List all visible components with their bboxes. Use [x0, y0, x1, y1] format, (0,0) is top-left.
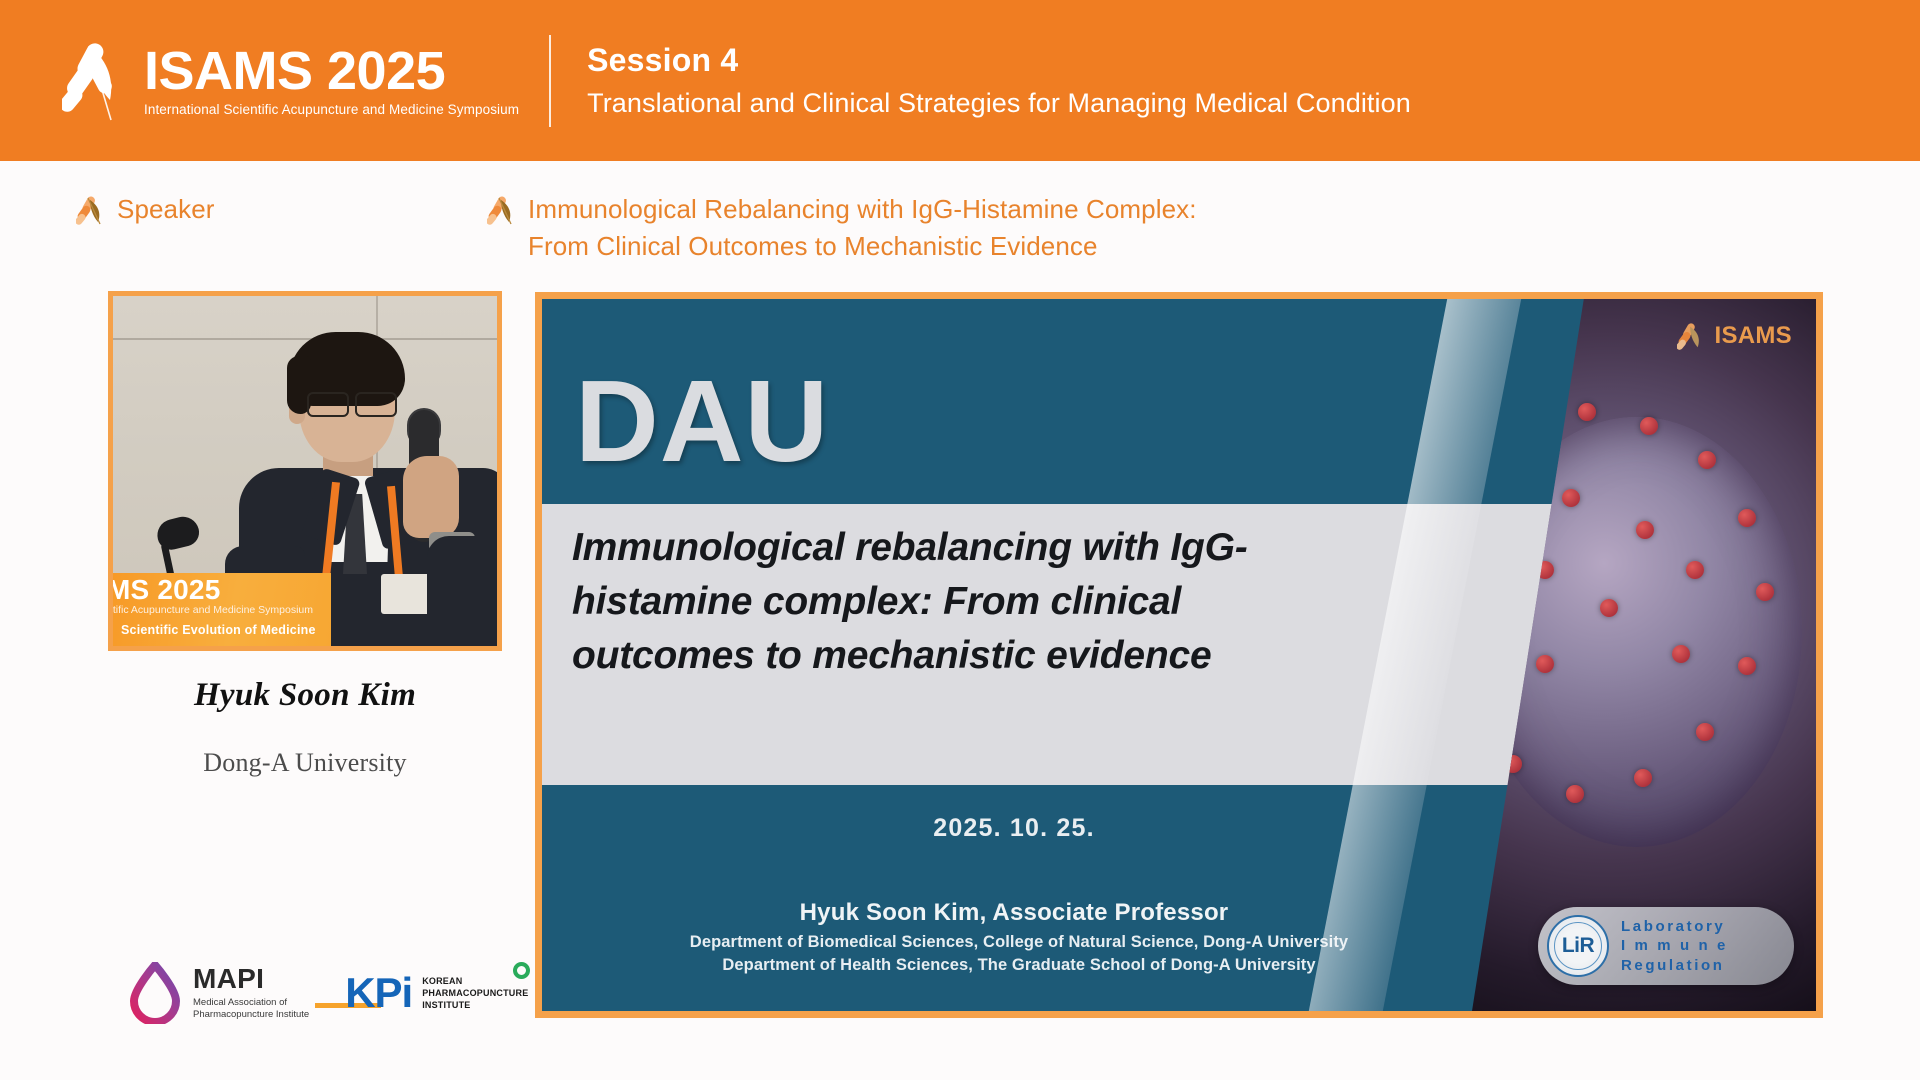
mapi-full-name: Medical Association of Pharmacopuncture …	[193, 997, 309, 1020]
overlay-subtitle: ntific Acupuncture and Medicine Symposiu…	[113, 604, 313, 616]
speaker-label-group: Speaker	[76, 191, 215, 228]
isams-watermark: ISAMS	[1677, 321, 1792, 351]
lab-name: Laboratory I m m u n e Regulation	[1621, 917, 1728, 976]
talk-title: Immunological Rebalancing with IgG-Hista…	[528, 191, 1197, 265]
university-abbr: DAU	[575, 363, 829, 479]
mapi-abbr: MAPI	[193, 965, 309, 993]
acupuncture-needle-icon	[76, 194, 108, 226]
session-description: Translational and Clinical Strategies fo…	[587, 87, 1411, 119]
overlay-title: MS 2025	[113, 574, 220, 606]
header-divider	[549, 35, 551, 127]
lir-abbr: LiR	[1549, 917, 1607, 975]
photo-overlay-banner: MS 2025 ntific Acupuncture and Medicine …	[113, 573, 331, 646]
speaker-photo: MS 2025 ntific Acupuncture and Medicine …	[108, 291, 502, 651]
speaker-label: Speaker	[117, 191, 215, 228]
speaker-organization: Dong-A University	[108, 748, 502, 778]
kpi-full-name: KOREAN PHARMACOPUNCTURE INSTITUTE	[422, 975, 528, 1011]
brand-subtitle: International Scientific Acupuncture and…	[144, 102, 519, 117]
session-name: Session 4	[587, 42, 1411, 80]
talk-title-group: Immunological Rebalancing with IgG-Hista…	[487, 191, 1197, 265]
acupuncture-needle-icon	[487, 194, 519, 226]
overlay-tagline: Scientific Evolution of Medicine	[121, 623, 316, 637]
lab-logo-badge: LiR Laboratory I m m u n e Regulation	[1538, 907, 1794, 985]
watermark-text: ISAMS	[1714, 322, 1792, 350]
isams-brand: ISAMS 2025 International Scientific Acup…	[62, 38, 519, 124]
page-header: ISAMS 2025 International Scientific Acup…	[0, 0, 1920, 161]
label-row: Speaker Immunological Rebalancing with I…	[0, 161, 1920, 286]
brand-title: ISAMS 2025	[144, 44, 519, 98]
kpi-abbr: KPi	[345, 972, 412, 1014]
lir-seal-icon: LiR	[1547, 915, 1609, 977]
kpi-logo: KPi KOREAN PHARMACOPUNCTURE INSTITUTE	[345, 972, 528, 1014]
slide-canvas: DAU Immunological rebalancing with IgG-h…	[542, 299, 1816, 1011]
sponsor-logos: MAPI Medical Association of Pharmacopunc…	[128, 962, 528, 1024]
slide-preview[interactable]: DAU Immunological rebalancing with IgG-h…	[535, 292, 1823, 1018]
acupuncture-needle-icon	[1677, 321, 1707, 351]
isams-logo-icon	[62, 38, 134, 124]
droplet-icon	[128, 962, 182, 1024]
speaker-card: MS 2025 ntific Acupuncture and Medicine …	[108, 291, 502, 778]
mapi-logo: MAPI Medical Association of Pharmacopunc…	[128, 962, 309, 1024]
session-block: Session 4 Translational and Clinical Str…	[587, 42, 1411, 119]
speaker-name: Hyuk Soon Kim	[108, 677, 502, 714]
slide-title: Immunological rebalancing with IgG-hista…	[572, 521, 1362, 682]
